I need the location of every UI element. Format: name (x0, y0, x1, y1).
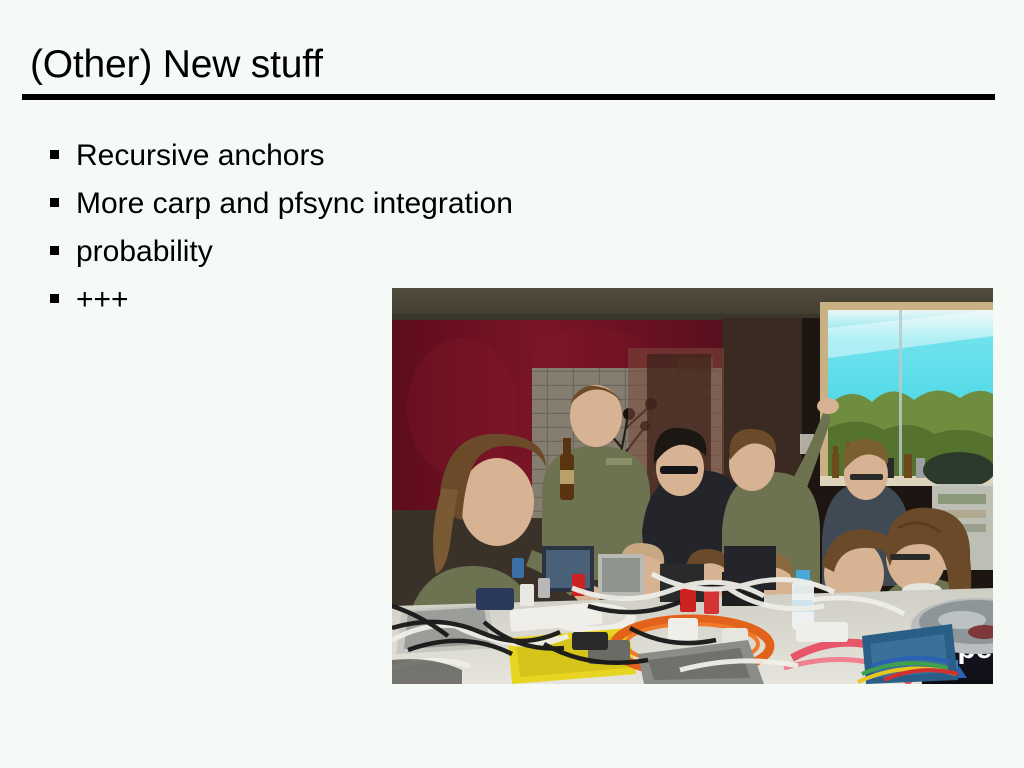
bullet-label: probability (76, 234, 213, 270)
hackathon-room-photo: Ope (392, 288, 993, 684)
bullet-label: +++ (76, 282, 129, 318)
list-item: More carp and pfsync integration (50, 186, 690, 234)
square-bullet-icon (50, 294, 59, 303)
title-underline-rule (22, 94, 995, 100)
slide: (Other) New stuff Recursive anchors More… (0, 0, 1024, 768)
bullet-label: Recursive anchors (76, 138, 324, 174)
bullet-label: More carp and pfsync integration (76, 186, 513, 222)
square-bullet-icon (50, 198, 59, 207)
list-item: Recursive anchors (50, 138, 690, 186)
square-bullet-icon (50, 150, 59, 159)
list-item: probability (50, 234, 690, 282)
page-title: (Other) New stuff (30, 42, 323, 88)
square-bullet-icon (50, 246, 59, 255)
